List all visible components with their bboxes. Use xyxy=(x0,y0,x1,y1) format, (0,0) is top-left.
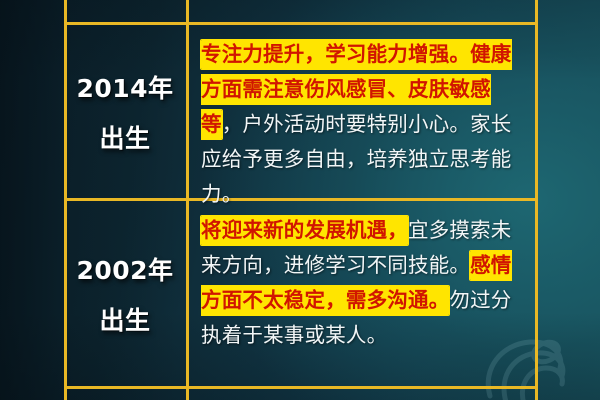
table-row: 2002年 出生 将迎来新的发展机遇，宜多摸索未来方向，进修学习不同技能。感情方… xyxy=(64,201,538,389)
year-label-line2: 出生 xyxy=(99,301,150,337)
year-label-line1: 2014年 xyxy=(76,69,173,105)
plain-text: ，户外活动时要特别小心。家长应给予更多自由，培养独立思考能力。 xyxy=(201,112,512,206)
description-paragraph: 专注力提升，学习能力增强。健康方面需注意伤风感冒、皮肤敏感等，户外活动时要特别小… xyxy=(201,37,528,212)
description-paragraph: 将迎来新的发展机遇，宜多摸索未来方向，进修学习不同技能。感情方面不太稳定，需多沟… xyxy=(201,213,528,353)
table-row: 2014年 出生 专注力提升，学习能力增强。健康方面需注意伤风感冒、皮肤敏感等，… xyxy=(64,25,538,201)
table-row xyxy=(64,0,538,25)
table-cell-year xyxy=(64,0,189,22)
table-cell-year: 2014年 出生 xyxy=(64,25,189,198)
table-cell-year: 2002年 出生 xyxy=(64,201,189,386)
table-cell-year xyxy=(64,389,189,400)
year-label-line2: 出生 xyxy=(99,119,150,155)
highlighted-text: 将迎来新的发展机遇， xyxy=(201,216,408,245)
fortune-table: 2014年 出生 专注力提升，学习能力增强。健康方面需注意伤风感冒、皮肤敏感等，… xyxy=(64,0,538,400)
table-cell-description xyxy=(189,0,538,22)
table-cell-description: 将迎来新的发展机遇，宜多摸索未来方向，进修学习不同技能。感情方面不太稳定，需多沟… xyxy=(189,201,538,386)
year-label-line1: 2002年 xyxy=(76,251,173,287)
table-cell-description: 专注力提升，学习能力增强。健康方面需注意伤风感冒、皮肤敏感等，户外活动时要特别小… xyxy=(189,25,538,198)
table-cell-description xyxy=(189,389,538,400)
table-row xyxy=(64,389,538,400)
